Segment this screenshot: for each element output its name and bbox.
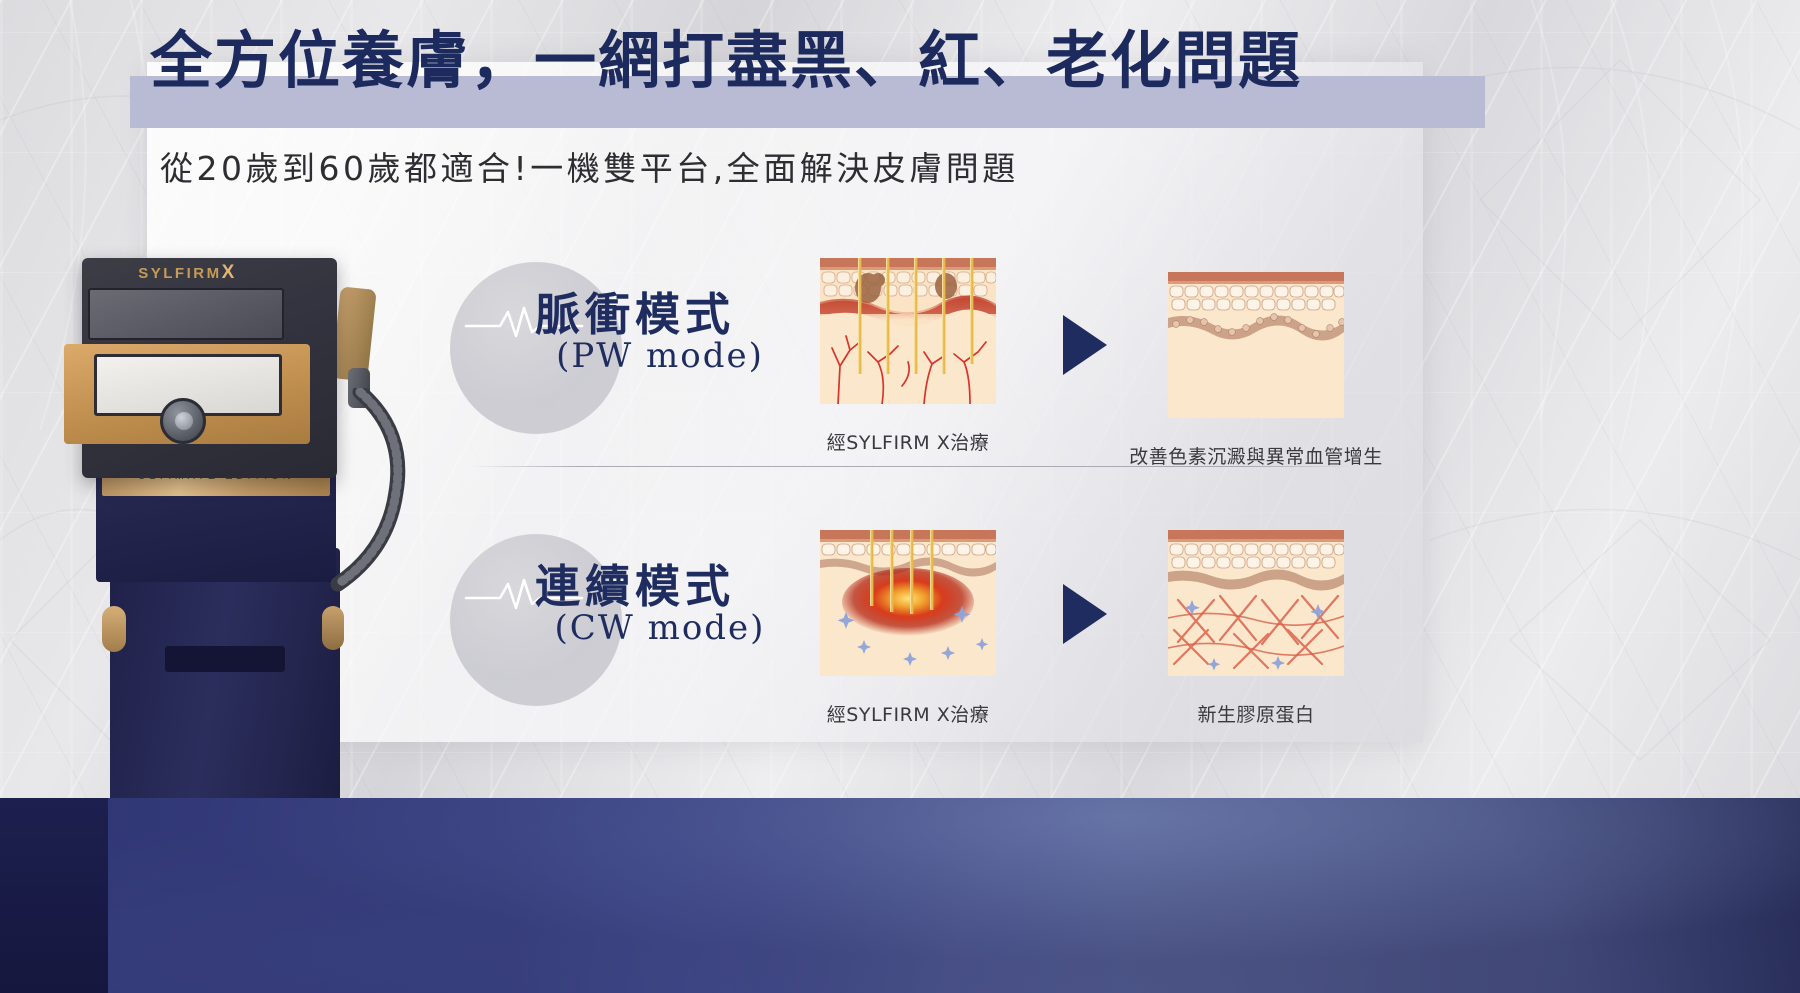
mode-row-cw: 連續模式 (CW mode) — [450, 512, 1450, 742]
caption-cw-after: 新生膠原蛋白 — [1197, 700, 1314, 727]
mode-name-cw: 連續模式 — [535, 550, 735, 615]
skin-diagram-pw-after: 改善色素沉澱與異常血管增生 — [1168, 272, 1344, 418]
mode-sub-cw: (CW mode) — [535, 608, 785, 648]
arrow-right-icon-cw — [1063, 584, 1107, 644]
caption-cw-before: 經SYLFIRM X治療 — [827, 700, 989, 727]
skin-image-cw-before — [820, 530, 996, 676]
page-subtitle: 從20歲到60歲都適合!一機雙平台,全面解決皮膚問題 — [160, 142, 1019, 190]
caption-pw-after: 改善色素沉澱與異常血管增生 — [1129, 442, 1383, 469]
mode-name-pw: 脈衝模式 — [535, 278, 735, 343]
arrow-right-icon-pw — [1063, 315, 1107, 375]
device-upper-display[interactable] — [88, 288, 284, 340]
device-front-slot — [165, 646, 285, 672]
bottom-left-block — [0, 798, 108, 993]
bottom-decoration-band — [0, 798, 1800, 993]
skin-image-pw-after — [1168, 272, 1344, 418]
mode-row-pw: 脈衝模式 (PW mode) — [450, 240, 1450, 470]
device-side-button-right[interactable] — [322, 606, 344, 650]
mode-sub-pw: (PW mode) — [535, 336, 785, 376]
skin-diagram-pw-before: 經SYLFIRM X治療 — [820, 258, 996, 404]
skin-image-cw-after — [1168, 530, 1344, 676]
caption-pw-before: 經SYLFIRM X治療 — [827, 428, 989, 455]
device-knob-cap — [175, 412, 193, 430]
skin-image-pw-before — [820, 258, 996, 404]
page-title: 全方位養膚，一網打盡黑、紅、老化問題 — [150, 28, 1550, 93]
device-brand-mark: X — [222, 262, 237, 283]
device-brand-logo: SYLFIRMX — [60, 262, 315, 284]
skin-diagram-cw-after: 新生膠原蛋白 — [1168, 530, 1344, 676]
device-brand-text: SYLFIRM — [138, 265, 221, 282]
skin-diagram-cw-before: 經SYLFIRM X治療 — [820, 530, 996, 676]
device-side-button-left[interactable] — [102, 606, 126, 652]
sylfirm-x-device: ULTIMATE EDITION SYLFIRMX — [60, 248, 440, 888]
